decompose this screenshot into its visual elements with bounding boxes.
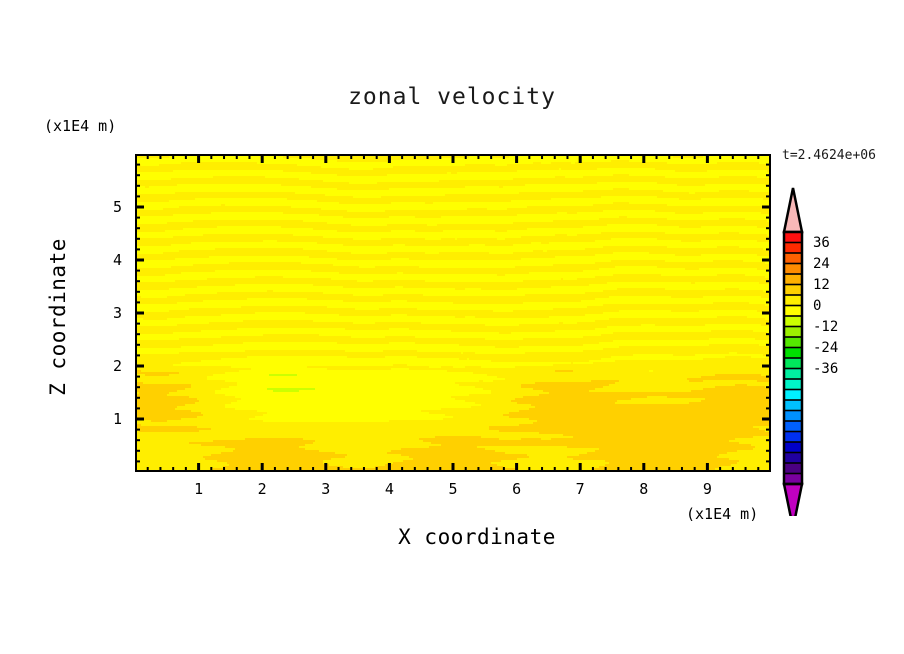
- colorbar-tick-label: 36: [813, 235, 830, 251]
- figure-canvas: zonal velocity (x1E4 m) (x1E4 m) t=2.462…: [0, 0, 904, 654]
- colorbar: 3624120-12-24-36: [780, 186, 900, 516]
- y-axis-unit-label: (x1E4 m): [44, 117, 116, 135]
- y-tick-label: 2: [113, 357, 122, 375]
- x-axis-title: X coordinate: [0, 525, 904, 549]
- x-tick-label: 5: [448, 480, 457, 498]
- x-tick-label: 4: [385, 480, 394, 498]
- y-tick-label: 5: [113, 198, 122, 216]
- y-tick-label: 3: [113, 304, 122, 322]
- y-tick-label: 1: [113, 410, 122, 428]
- timestamp-label: t=2.4624e+06: [782, 148, 876, 163]
- contour-field: [135, 154, 771, 472]
- x-tick-label: 1: [194, 480, 203, 498]
- x-tick-label: 7: [576, 480, 585, 498]
- colorbar-tick-label: 12: [813, 277, 830, 293]
- page-title: zonal velocity: [0, 84, 904, 110]
- colorbar-tick-label: 0: [813, 298, 821, 314]
- colorbar-tick-label: -12: [813, 319, 838, 335]
- colorbar-tick-label: 24: [813, 256, 830, 272]
- x-tick-label: 9: [703, 480, 712, 498]
- x-tick-label: 6: [512, 480, 521, 498]
- x-tick-label: 3: [321, 480, 330, 498]
- y-axis-title: Z coordinate: [46, 217, 70, 417]
- contour-plot: [135, 154, 771, 472]
- y-tick-label: 4: [113, 251, 122, 269]
- colorbar-tick-label: -24: [813, 340, 838, 356]
- x-tick-label: 8: [639, 480, 648, 498]
- colorbar-tick-label: -36: [813, 361, 838, 377]
- x-axis-unit-label: (x1E4 m): [686, 505, 758, 523]
- x-tick-label: 2: [258, 480, 267, 498]
- colorbar-swatches: [780, 186, 900, 516]
